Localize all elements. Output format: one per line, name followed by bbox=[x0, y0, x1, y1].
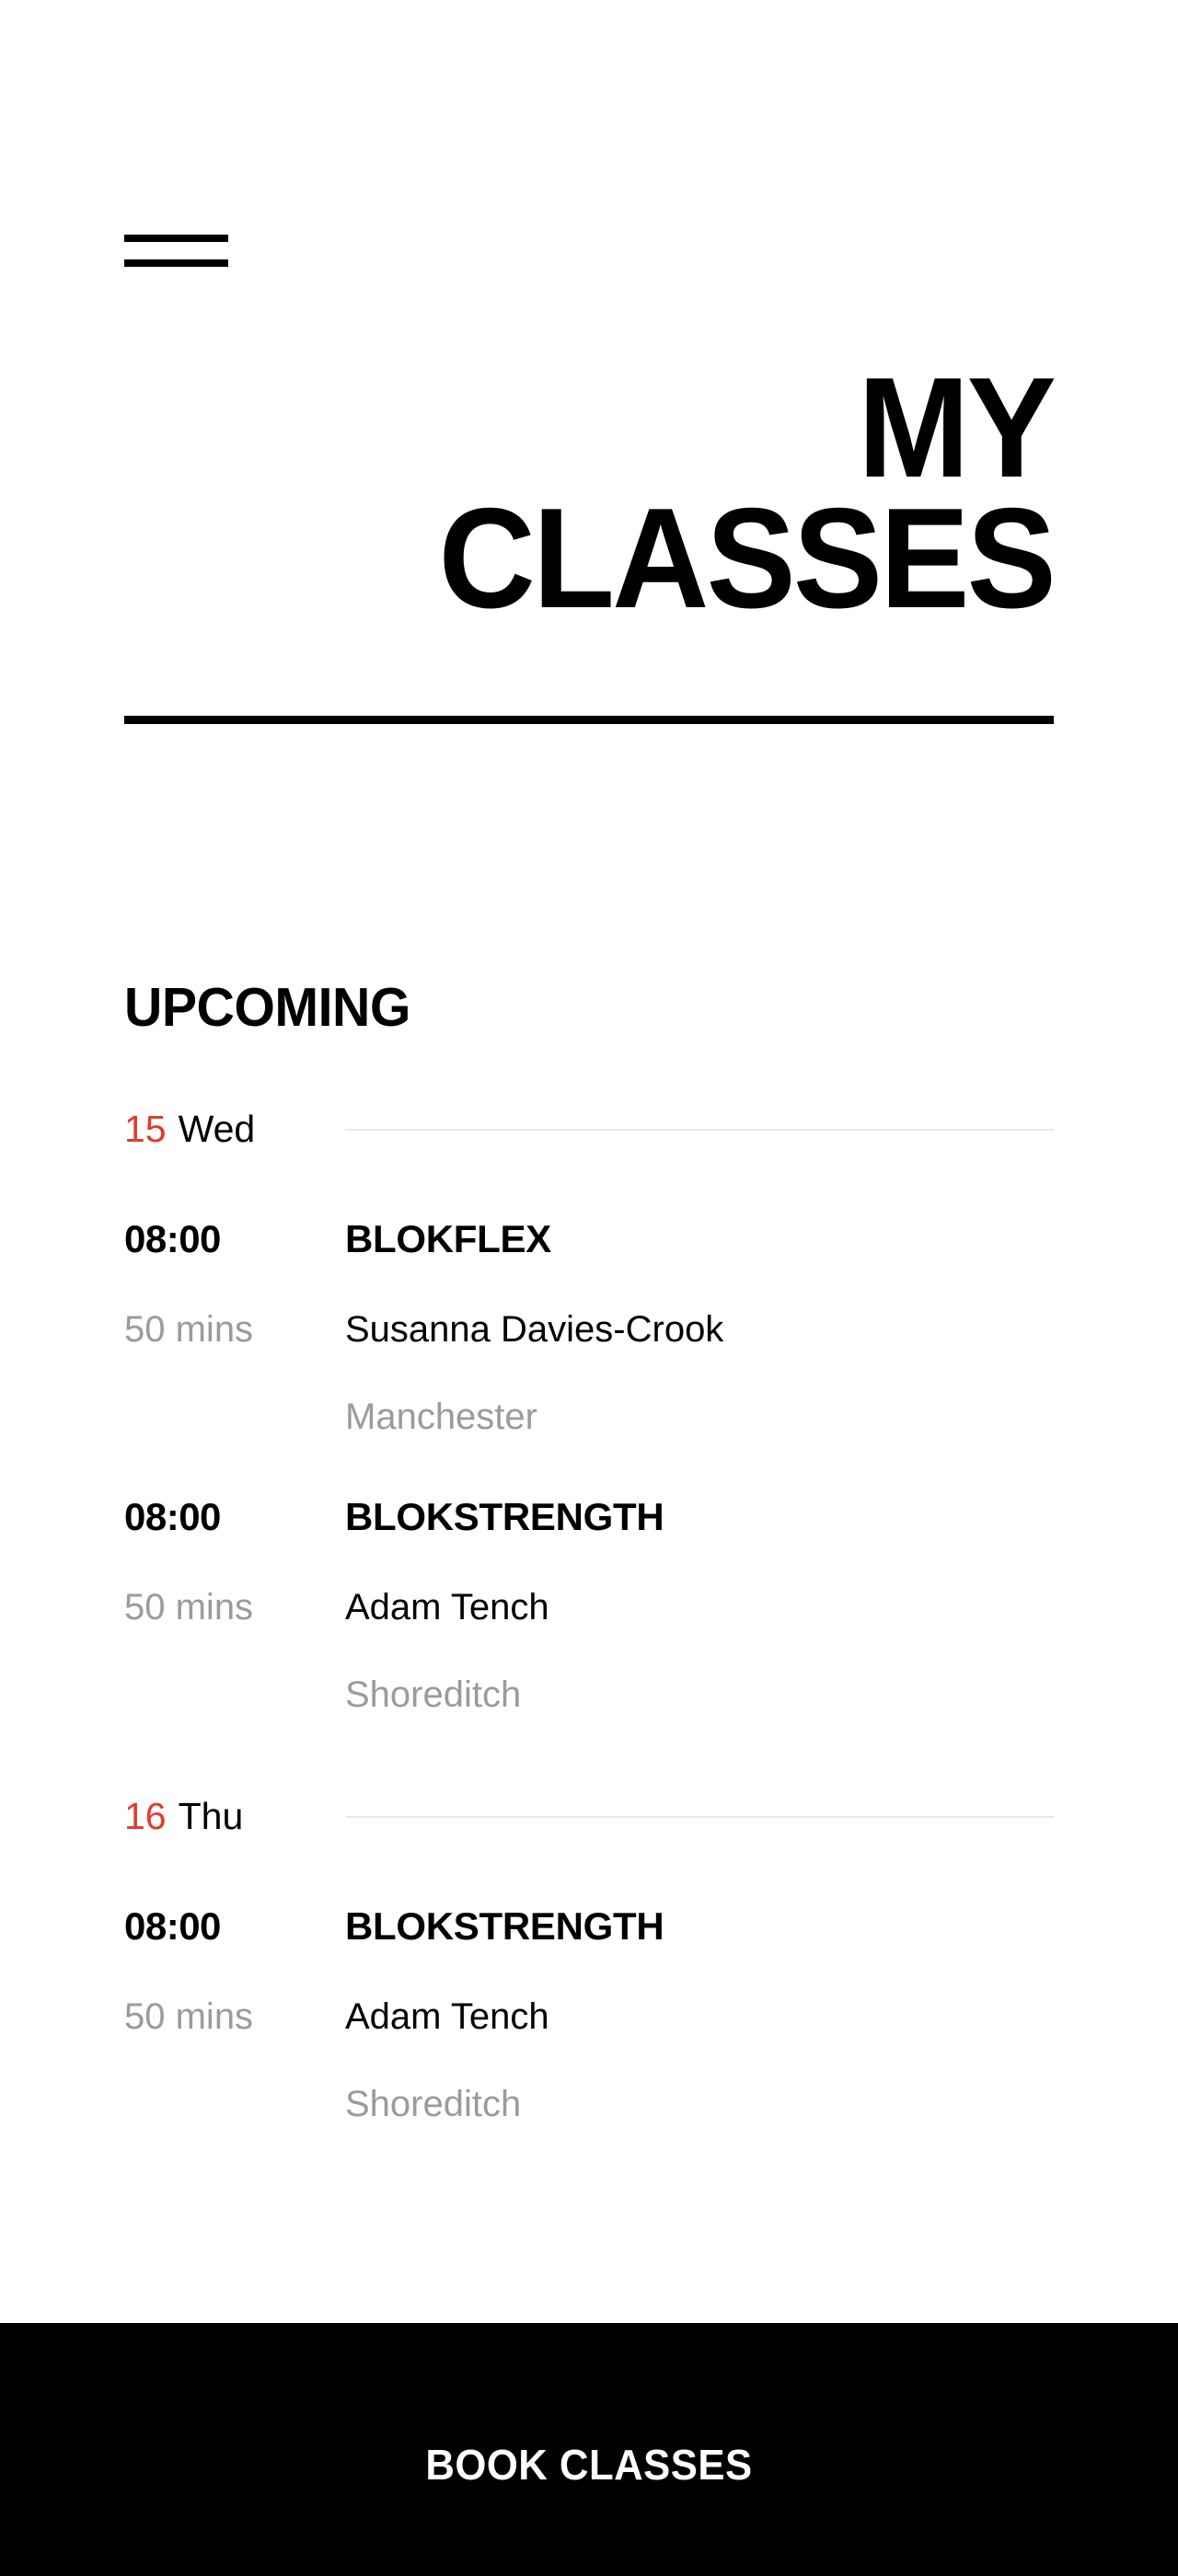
day-group-spacer bbox=[0, 1714, 1178, 1787]
class-info-column: BLOKFLEX Susanna Davies-Crook Manchester bbox=[345, 1219, 1054, 1436]
day-header: 15 Wed bbox=[124, 1099, 1054, 1158]
class-time-column: 08:00 50 mins bbox=[124, 1219, 345, 1436]
page-title: MY CLASSES bbox=[180, 362, 1054, 625]
day-divider bbox=[345, 1816, 1054, 1818]
class-duration: 50 mins bbox=[124, 1310, 345, 1349]
class-list-item[interactable]: 08:00 50 mins BLOKSTRENGTH Adam Tench Sh… bbox=[124, 1436, 1054, 1714]
book-classes-button[interactable]: BOOK CLASSES bbox=[0, 2323, 1178, 2576]
hamburger-menu-icon[interactable] bbox=[124, 224, 228, 268]
class-time-column: 08:00 50 mins bbox=[124, 1497, 345, 1714]
class-instructor: Adam Tench bbox=[345, 1588, 1054, 1627]
day-number: 16 bbox=[124, 1798, 167, 1835]
day-group: 15 Wed 08:00 50 mins BLOKFLEX Susanna Da… bbox=[0, 1099, 1178, 1714]
class-time: 08:00 bbox=[124, 1906, 345, 1947]
class-instructor: Susanna Davies-Crook bbox=[345, 1310, 1054, 1349]
class-title: BLOKSTRENGTH bbox=[345, 1497, 1054, 1537]
class-list-item[interactable]: 08:00 50 mins BLOKFLEX Susanna Davies-Cr… bbox=[124, 1158, 1054, 1436]
class-location: Shoreditch bbox=[345, 1675, 1054, 1714]
book-classes-label: BOOK CLASSES bbox=[29, 2440, 1149, 2490]
day-header: 16 Thu bbox=[124, 1787, 1054, 1846]
class-duration: 50 mins bbox=[124, 1997, 345, 2036]
schedule-list: 15 Wed 08:00 50 mins BLOKFLEX Susanna Da… bbox=[0, 1099, 1178, 2123]
section-heading-upcoming: UPCOMING bbox=[124, 981, 410, 1035]
class-duration: 50 mins bbox=[124, 1588, 345, 1627]
day-name: Thu bbox=[179, 1798, 244, 1835]
class-time: 08:00 bbox=[124, 1219, 345, 1259]
class-list-item[interactable]: 08:00 50 mins BLOKSTRENGTH Adam Tench Sh… bbox=[124, 1846, 1054, 2123]
class-title: BLOKSTRENGTH bbox=[345, 1906, 1054, 1947]
class-time-column: 08:00 50 mins bbox=[124, 1906, 345, 2123]
class-location: Shoreditch bbox=[345, 2085, 1054, 2123]
class-instructor: Adam Tench bbox=[345, 1997, 1054, 2036]
hamburger-bar-bottom bbox=[124, 259, 228, 267]
day-divider bbox=[345, 1129, 1054, 1131]
title-divider bbox=[124, 716, 1054, 724]
class-info-column: BLOKSTRENGTH Adam Tench Shoreditch bbox=[345, 1906, 1054, 2123]
app-screen: MY CLASSES UPCOMING 15 Wed 08:00 50 mins… bbox=[0, 0, 1178, 2576]
day-number: 15 bbox=[124, 1110, 167, 1148]
class-title: BLOKFLEX bbox=[345, 1219, 1054, 1259]
class-info-column: BLOKSTRENGTH Adam Tench Shoreditch bbox=[345, 1497, 1054, 1714]
class-location: Manchester bbox=[345, 1397, 1054, 1436]
class-time: 08:00 bbox=[124, 1497, 345, 1537]
day-group: 16 Thu 08:00 50 mins BLOKSTRENGTH Adam T… bbox=[0, 1787, 1178, 2123]
hamburger-bar-top bbox=[124, 235, 228, 242]
day-name: Wed bbox=[179, 1110, 256, 1148]
